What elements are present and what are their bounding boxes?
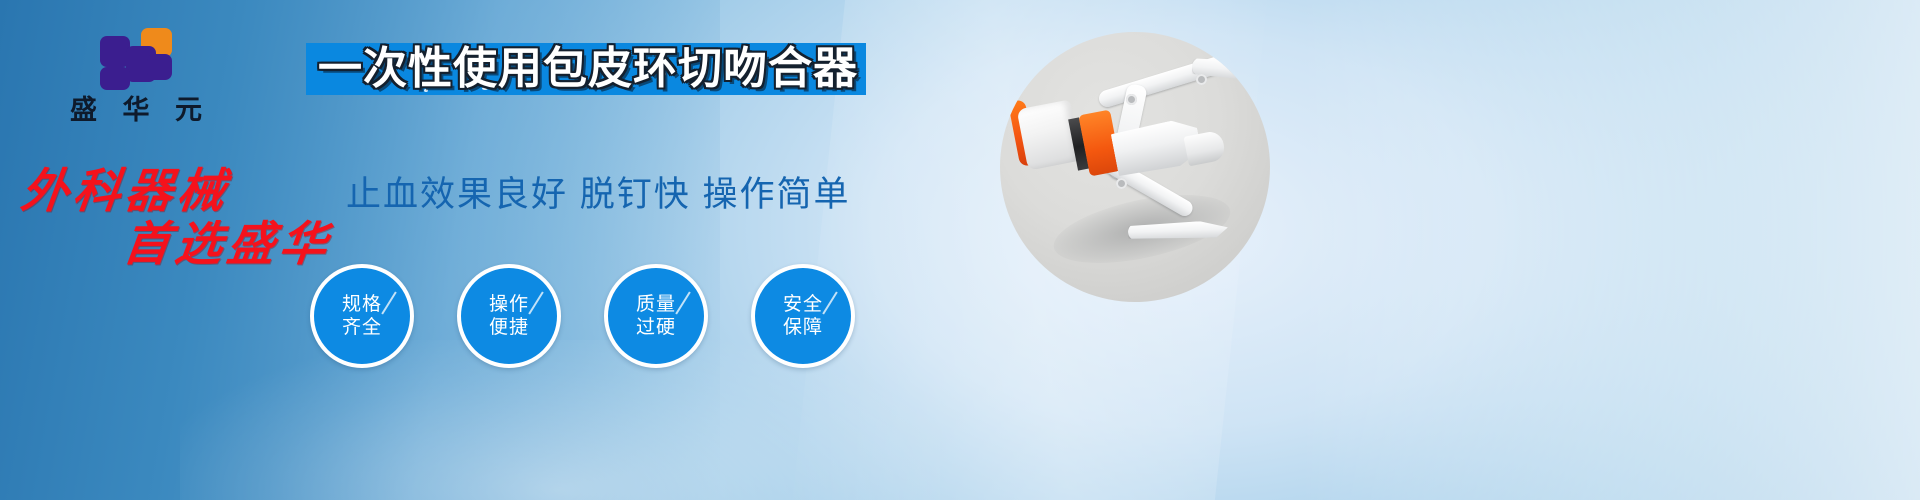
device-pivot-icon: [1126, 94, 1137, 105]
badge-slash-icon: [381, 291, 396, 314]
logo-blocks-icon: [100, 28, 172, 90]
feature-badge[interactable]: 安全 保障: [751, 264, 855, 368]
product-subtitle: 止血效果良好 脱钉快 操作简单: [346, 166, 850, 217]
feature-badge-list: 规格 齐全 操作 便捷 质量 过硬 安全 保障: [310, 264, 855, 368]
product-device-illustration: [1000, 32, 1270, 302]
feature-badge-label: 质量 过硬: [636, 293, 676, 339]
feature-badge[interactable]: 操作 便捷: [457, 264, 561, 368]
brand-name: 盛 华 元: [56, 96, 216, 124]
badge-slash-icon: [528, 291, 543, 314]
badge-slash-icon: [675, 291, 690, 314]
feature-badge-label: 安全 保障: [783, 293, 823, 339]
brand-logo[interactable]: 盛 华 元: [56, 28, 216, 124]
feature-badge-label: 规格 齐全: [342, 293, 382, 339]
device-pivot-icon: [1196, 74, 1207, 85]
promo-banner: 盛 华 元 外科器械 首选盛华 一次性使用包皮环切吻合器 止血效果良好 脱钉快 …: [0, 0, 1920, 500]
slogan-line-2: 首选盛华: [120, 205, 336, 274]
feature-badge[interactable]: 规格 齐全: [310, 264, 414, 368]
logo-block-purple-bottom: [100, 67, 130, 90]
device-upper-arm: [1097, 48, 1249, 109]
product-image: [1000, 32, 1270, 302]
product-title: 一次性使用包皮环切吻合器: [298, 40, 878, 98]
logo-block-purple-right: [147, 54, 172, 80]
badge-slash-icon: [822, 291, 837, 314]
background-right-highlight: [1300, 0, 1920, 500]
device-pivot-icon: [1116, 178, 1127, 189]
device-tip: [1183, 130, 1226, 167]
feature-badge[interactable]: 质量 过硬: [604, 264, 708, 368]
feature-badge-label: 操作 便捷: [489, 293, 529, 339]
